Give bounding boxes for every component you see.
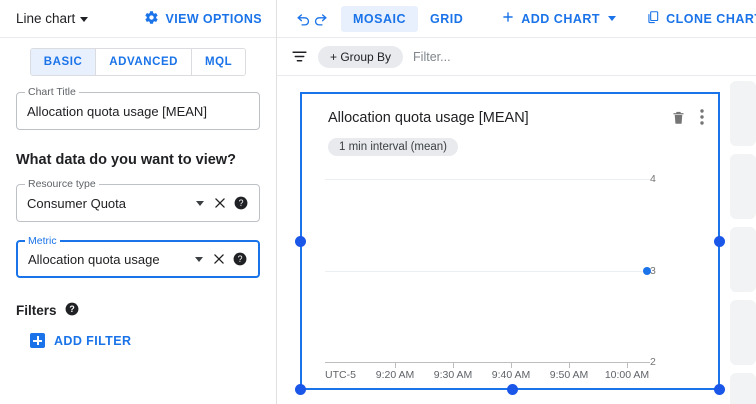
gear-icon (144, 10, 159, 28)
tab-advanced[interactable]: ADVANCED (96, 49, 192, 75)
tab-mql-label: MQL (205, 56, 232, 68)
sidebar-header: Line chart VIEW OPTIONS (0, 0, 276, 38)
plus-square-icon (30, 333, 45, 348)
resize-handle-middle-right[interactable] (714, 236, 725, 247)
x-tick-label-4: 10:00 AM (605, 369, 649, 381)
grid-label: GRID (430, 12, 463, 26)
config-tabs-container: BASIC ADVANCED MQL (0, 38, 276, 76)
x-tick-3 (569, 363, 570, 368)
clone-chart-button[interactable]: CLONE CHART (638, 4, 756, 33)
chart-title-legend: Chart Title (25, 87, 79, 98)
group-by-label: + Group By (330, 50, 391, 64)
chevron-down-icon (80, 17, 88, 22)
chart-type-label: Line chart (16, 11, 75, 26)
chevron-down-icon[interactable] (191, 201, 209, 206)
view-options-label: VIEW OPTIONS (166, 12, 262, 26)
view-options-button[interactable]: VIEW OPTIONS (144, 10, 262, 28)
add-filter-button[interactable]: ADD FILTER (30, 333, 260, 348)
timezone-label: UTC-5 (325, 369, 356, 381)
ghost-chart-card[interactable] (730, 81, 756, 146)
metric-value: Allocation quota usage (28, 252, 190, 267)
metric-field[interactable]: Metric Allocation quota usage ? (16, 240, 260, 278)
dashboard-canvas: Allocation quota usage [MEAN] (277, 77, 756, 404)
filter-placeholder-text: Filter... (413, 50, 451, 64)
y-tick-label-2: 2 (650, 356, 670, 368)
group-by-chip[interactable]: + Group By (318, 46, 403, 68)
gridline-y3 (325, 271, 650, 272)
copy-icon (646, 10, 660, 27)
gridline-y4 (325, 179, 650, 180)
y-tick-label-4: 4 (650, 173, 670, 185)
x-tick-label-3: 9:50 AM (550, 369, 589, 381)
trash-icon[interactable] (671, 110, 686, 125)
svg-text:?: ? (69, 304, 74, 314)
add-chart-label: ADD CHART (521, 12, 600, 26)
config-tabs: BASIC ADVANCED MQL (30, 48, 246, 76)
chart-title-field[interactable]: Chart Title Allocation quota usage [MEAN… (16, 92, 260, 130)
chart-type-dropdown[interactable]: Line chart (16, 11, 88, 26)
y-tick-label-3: 3 (650, 265, 670, 277)
ghost-chart-card[interactable] (730, 154, 756, 219)
tab-advanced-label: ADVANCED (109, 56, 178, 68)
resource-type-value: Consumer Quota (27, 196, 191, 211)
x-tick-label-1: 9:30 AM (434, 369, 473, 381)
adjacent-charts-column (730, 81, 756, 404)
close-icon[interactable] (208, 252, 230, 266)
x-tick-0 (395, 363, 396, 368)
resource-type-field[interactable]: Resource type Consumer Quota ? (16, 184, 260, 222)
chevron-down-icon[interactable] (190, 257, 208, 262)
ghost-chart-card[interactable] (730, 227, 756, 292)
chart-card-selected[interactable]: Allocation quota usage [MEAN] (300, 92, 720, 390)
resource-type-legend: Resource type (25, 179, 99, 190)
ghost-chart-card[interactable] (730, 300, 756, 365)
interval-chip: 1 min interval (mean) (328, 138, 458, 156)
chart-card-actions (671, 108, 704, 125)
dashboard-panel: MOSAIC GRID ADD CHART (277, 0, 756, 404)
data-section-heading: What data do you want to view? (16, 152, 260, 168)
add-filter-label: ADD FILTER (54, 334, 131, 348)
chart-editor-page: Line chart VIEW OPTIONS BASIC ADVANCED (0, 0, 756, 404)
svg-text:?: ? (238, 254, 243, 264)
dashboard-toolbar: MOSAIC GRID ADD CHART (277, 0, 756, 38)
chart-card-title: Allocation quota usage [MEAN] (328, 108, 671, 128)
resize-handle-bottom-center[interactable] (507, 384, 518, 395)
chevron-down-icon (608, 16, 616, 21)
chart-config-sidebar: Line chart VIEW OPTIONS BASIC ADVANCED (0, 0, 277, 404)
close-icon[interactable] (209, 196, 231, 210)
chart-plot-area: 4 3 2 UTC-5 9:20 AM 9:30 AM (302, 172, 718, 388)
redo-icon[interactable] (312, 4, 329, 34)
metric-legend: Metric (25, 236, 60, 247)
more-vert-icon[interactable] (700, 109, 704, 125)
x-tick-1 (453, 363, 454, 368)
resize-handle-middle-left[interactable] (295, 236, 306, 247)
x-axis-line (325, 362, 650, 363)
filter-lines-icon[interactable] (291, 48, 308, 65)
mosaic-button[interactable]: MOSAIC (341, 6, 418, 32)
filters-label: Filters (16, 303, 57, 318)
plus-icon (501, 10, 515, 27)
x-tick-label-0: 9:20 AM (376, 369, 415, 381)
dashboard-filter-bar: + Group By Filter... (277, 38, 756, 76)
svg-text:?: ? (239, 198, 244, 208)
x-tick-4 (627, 363, 628, 368)
undo-icon[interactable] (295, 4, 312, 34)
x-tick-2 (511, 363, 512, 368)
data-point (643, 267, 651, 275)
config-form: Chart Title Allocation quota usage [MEAN… (0, 76, 276, 348)
tab-basic-label: BASIC (44, 56, 83, 68)
help-icon[interactable]: ? (231, 196, 251, 210)
clone-chart-label: CLONE CHART (666, 12, 756, 26)
filter-input[interactable]: Filter... (413, 50, 451, 64)
x-tick-label-2: 9:40 AM (492, 369, 531, 381)
help-icon[interactable]: ? (65, 302, 79, 319)
chart-title-value: Allocation quota usage [MEAN] (27, 104, 251, 119)
grid-button[interactable]: GRID (418, 6, 475, 32)
help-icon[interactable]: ? (230, 252, 250, 266)
tab-mql[interactable]: MQL (192, 49, 245, 75)
ghost-chart-card[interactable] (730, 373, 756, 404)
filters-section-header: Filters ? (16, 302, 260, 319)
layout-mode-toggle: MOSAIC GRID (341, 6, 475, 32)
resize-handle-bottom-left[interactable] (295, 384, 306, 395)
add-chart-button[interactable]: ADD CHART (493, 4, 624, 33)
resize-handle-bottom-right[interactable] (714, 384, 725, 395)
mosaic-label: MOSAIC (353, 12, 406, 26)
tab-basic[interactable]: BASIC (31, 49, 97, 75)
chart-card-header: Allocation quota usage [MEAN] (302, 94, 718, 128)
